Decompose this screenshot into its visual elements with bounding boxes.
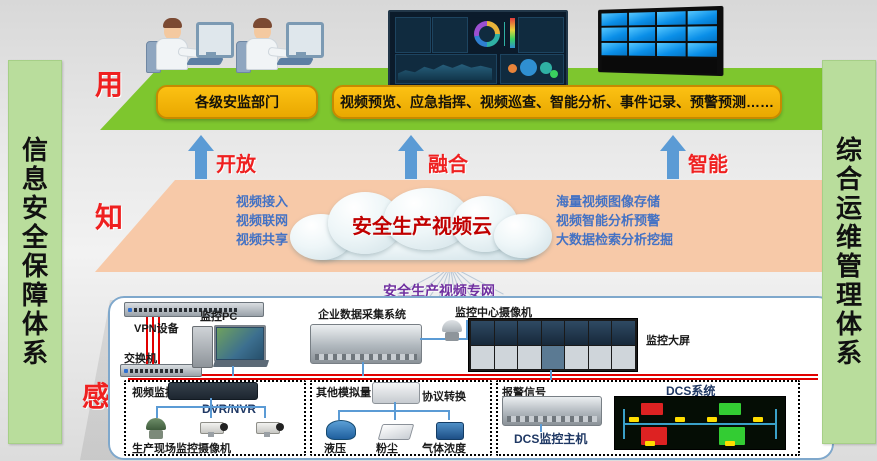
industrial-server-icon	[310, 324, 422, 364]
monitor-pc-label: 监控PC	[200, 308, 237, 324]
capability-item: 视频共享	[138, 231, 288, 250]
sensor-label: 气体浓度	[422, 440, 466, 456]
video-wall-icon	[468, 318, 638, 372]
link-line	[448, 410, 450, 420]
sensor-label: 粉尘	[376, 440, 398, 456]
protocol-converter-icon	[372, 382, 420, 404]
analytics-dashboard-icon	[388, 10, 568, 88]
video-wall-icon	[592, 8, 728, 84]
keyboard-icon	[213, 360, 269, 367]
box-camera-icon	[250, 420, 284, 438]
capability-item: 视频联网	[138, 212, 288, 231]
arrow-label-open: 开放	[216, 148, 256, 177]
cloud-title: 安全生产视频云	[288, 210, 556, 239]
vpn-device-icon	[124, 302, 264, 317]
department-pill[interactable]: 各级安监部门	[156, 85, 318, 119]
arrow-open	[188, 135, 214, 179]
right-banner-text: 综合运维管理体系	[836, 136, 862, 369]
link-line	[540, 424, 542, 432]
functions-pill[interactable]: 视频预览、应急指挥、视频巡查、智能分析、事件记录、预警预测……	[332, 85, 782, 119]
operators-at-workstations-icon	[142, 8, 318, 82]
data-collection-label: 企业数据采集系统	[318, 306, 406, 322]
gas-sensor-icon	[436, 422, 464, 440]
big-screen-label: 监控大屏	[646, 332, 690, 348]
link-line	[394, 410, 396, 420]
hydraulic-sensor-icon	[326, 420, 356, 440]
link-line	[338, 410, 340, 420]
arrow-fusion	[398, 135, 424, 179]
site-camera-caption: 生产现场监控摄像机	[132, 440, 231, 456]
capability-item: 视频接入	[138, 193, 288, 212]
layer-glyph-know: 知	[95, 196, 123, 236]
cloud-right-capabilities: 海量视频图像存储 视频智能分析预警 大数据检索分析挖掘	[556, 193, 776, 250]
ptz-camera-icon	[144, 418, 170, 440]
desktop-pc-icon	[192, 326, 213, 368]
dcs-host-icon	[502, 396, 602, 426]
left-banner-text: 信息安全保障体系	[22, 136, 48, 369]
dust-sensor-icon	[378, 424, 415, 440]
video-cloud-icon: 安全生产视频云	[288, 188, 556, 264]
pc-monitor-icon	[214, 325, 266, 362]
link-line	[550, 370, 552, 380]
right-banner: 综合运维管理体系	[822, 60, 876, 444]
architecture-diagram: 用 知 感 各级安监部门 视频预览、应急指挥、视频巡查、智能分析、事件记录、预警…	[0, 0, 877, 461]
layer-glyph-sense: 感	[82, 375, 110, 415]
layer-glyph-use: 用	[95, 63, 123, 103]
link-line	[394, 402, 396, 410]
analog-group-title: 其他模拟量	[316, 384, 371, 400]
protocol-converter-label: 协议转换	[422, 388, 466, 404]
link-line	[264, 406, 266, 418]
sense-layer-panel: VPN设备 交换机 监控PC 企业数据采集系统 监控中心摄像机	[108, 296, 834, 460]
switch-label: 交换机	[124, 350, 157, 366]
dome-camera-icon	[440, 320, 466, 342]
link-line	[210, 398, 212, 406]
left-banner: 信息安全保障体系	[8, 60, 62, 444]
link-line	[232, 366, 234, 376]
capability-item: 海量视频图像存储	[556, 193, 776, 212]
capability-item: 大数据检索分析挖掘	[556, 231, 776, 250]
arrow-label-intelligent: 智能	[688, 148, 728, 177]
link-line	[156, 406, 158, 418]
link-line	[210, 406, 212, 418]
dcs-system-icon	[614, 396, 786, 450]
arrow-intelligent	[660, 135, 686, 179]
dcs-host-label: DCS监控主机	[514, 430, 587, 447]
box-camera-icon	[194, 420, 228, 438]
sensor-label: 液压	[324, 440, 346, 456]
vpn-device-label: VPN设备	[134, 320, 179, 336]
capability-item: 视频智能分析预警	[556, 212, 776, 231]
cloud-left-capabilities: 视频接入 视频联网 视频共享	[138, 193, 288, 250]
dvr-nvr-icon	[168, 382, 258, 400]
link-line	[362, 362, 364, 376]
arrow-label-fusion: 融合	[428, 148, 468, 177]
